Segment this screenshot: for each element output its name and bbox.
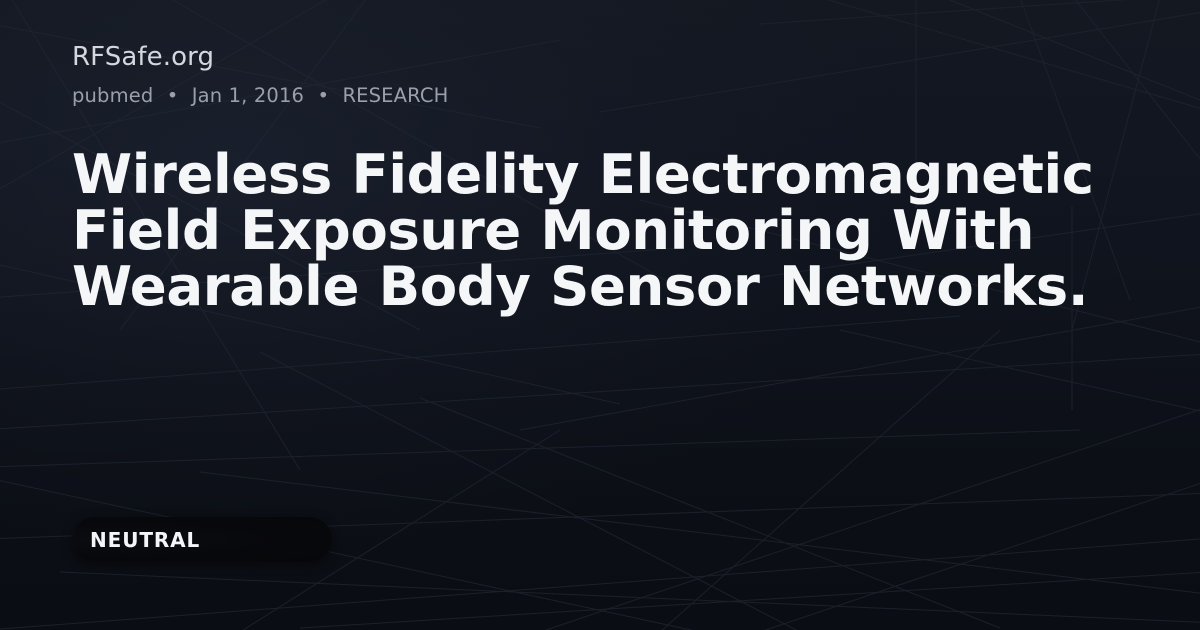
page-title: Wireless Fidelity Electromagnetic Field … — [72, 146, 1132, 314]
site-name: RFSafe.org — [72, 42, 214, 72]
status-badge: NEUTRAL — [72, 517, 332, 562]
meta-date: Jan 1, 2016 — [192, 84, 304, 107]
status-badge-label: NEUTRAL — [72, 529, 200, 551]
card-content: RFSafe.org pubmed • Jan 1, 2016 • RESEAR… — [72, 0, 1132, 630]
meta-separator-1: • — [160, 84, 186, 108]
article-preview-card: RFSafe.org pubmed • Jan 1, 2016 • RESEAR… — [0, 0, 1200, 630]
meta-category: RESEARCH — [342, 84, 448, 107]
meta-separator-2: • — [310, 84, 336, 108]
article-meta: pubmed • Jan 1, 2016 • RESEARCH — [72, 84, 448, 108]
meta-source: pubmed — [72, 84, 153, 107]
badge-row: NEUTRAL — [72, 517, 332, 562]
